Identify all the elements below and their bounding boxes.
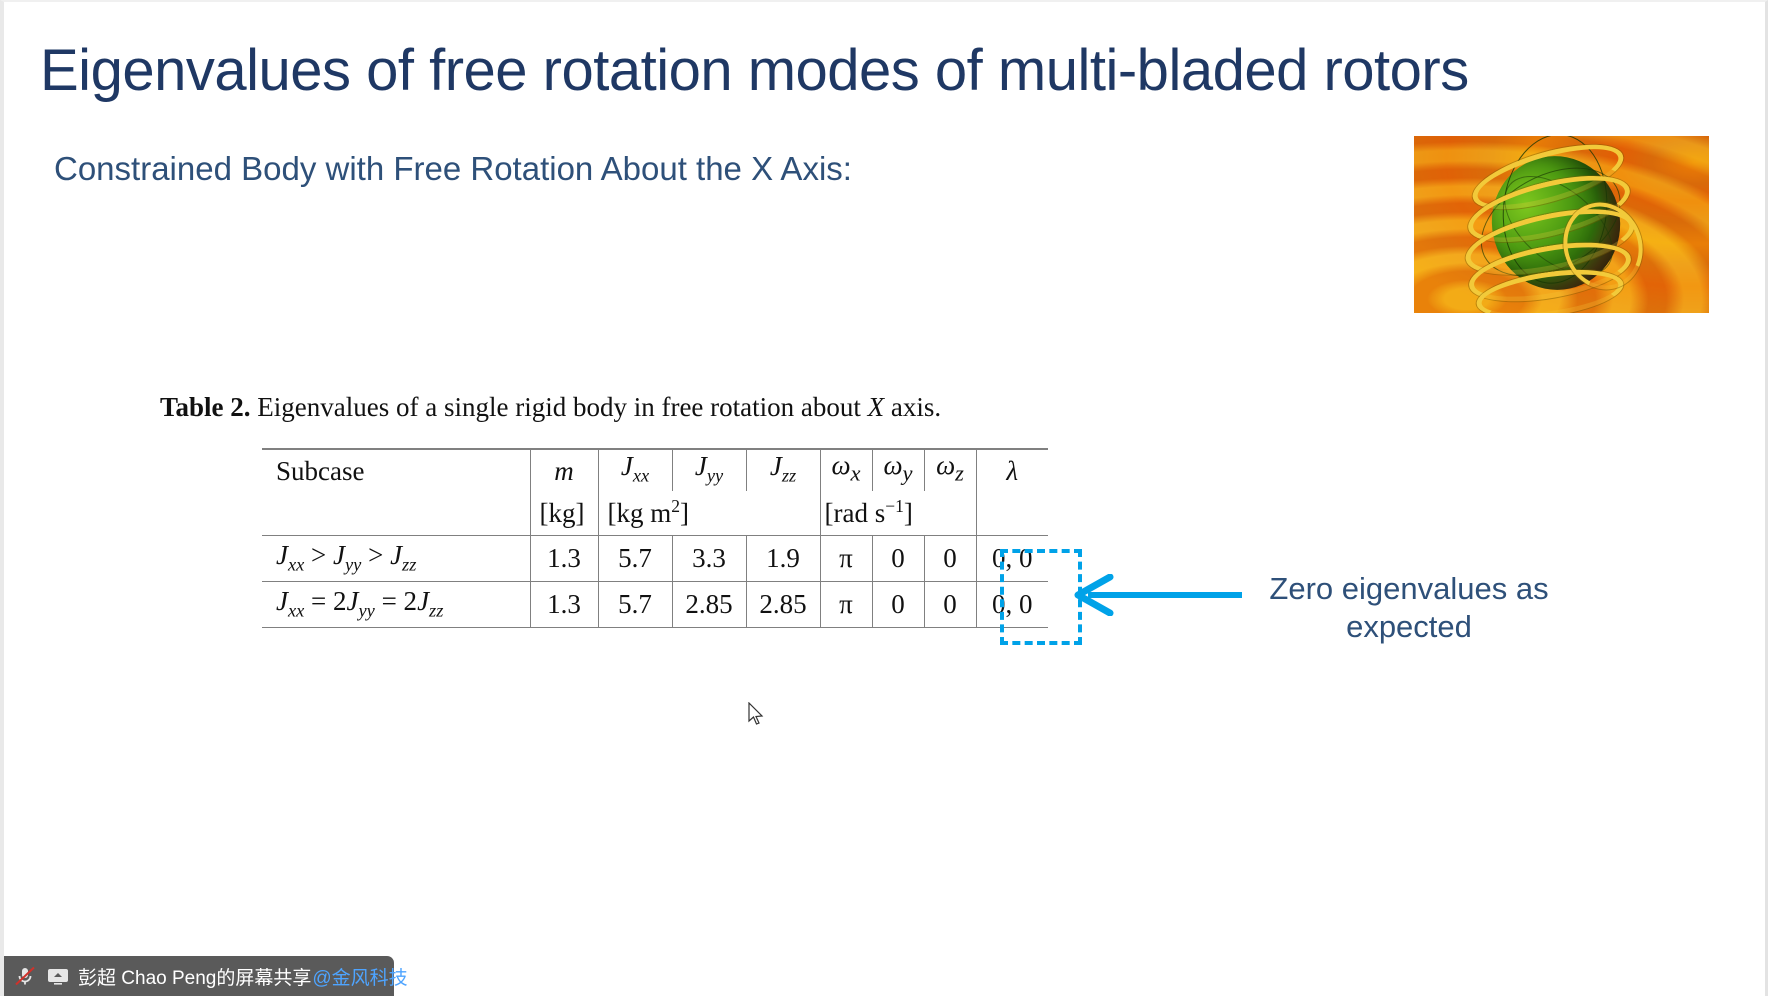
cell-lambda: 0, 0 [976, 535, 1048, 581]
table-caption-text: Eigenvalues of a single rigid body in fr… [251, 392, 868, 422]
cell-jyy: 2.85 [672, 581, 746, 627]
units-lambda-blank [976, 491, 1048, 535]
cell-omega-y: 0 [872, 535, 924, 581]
cell-subcase: Jxx = 2Jyy = 2Jzz [262, 581, 530, 627]
cell-jyy: 3.3 [672, 535, 746, 581]
cell-jxx: 5.7 [598, 581, 672, 627]
table-header-row: Subcase m Jxx Jyy Jzz ωx ωy ωz λ [262, 449, 1048, 491]
cell-subcase: Jxx > Jyy > Jzz [262, 535, 530, 581]
cell-jzz: 1.9 [746, 535, 820, 581]
table-row: Jxx > Jyy > Jzz 1.3 5.7 3.3 1.9 π 0 0 0,… [262, 535, 1048, 581]
presentation-slide: Eigenvalues of free rotation modes of mu… [4, 2, 1765, 964]
share-company-tag: @金风科技 [312, 963, 407, 990]
cell-mass: 1.3 [530, 581, 598, 627]
cell-lambda: 0, 0 [976, 581, 1048, 627]
table-caption-axis: X [868, 392, 885, 422]
annotation-text: Zero eigenvalues as expected [1244, 570, 1574, 646]
col-header-omega-z: ωz [924, 449, 976, 491]
col-header-mass: m [530, 449, 598, 491]
slide-subtitle: Constrained Body with Free Rotation Abou… [54, 150, 852, 188]
annotation-line-2: expected [1244, 608, 1574, 646]
cell-omega-x: π [820, 535, 872, 581]
col-header-subcase: Subcase [262, 449, 530, 491]
col-header-lambda: λ [976, 449, 1048, 491]
screen-share-bar[interactable]: 彭超 Chao Peng的屏幕共享 @金风科技 [4, 956, 394, 996]
cell-omega-z: 0 [924, 581, 976, 627]
callout-arrow-icon [1064, 574, 1244, 616]
units-inertia: [kg m2] [598, 491, 820, 535]
table-row: Jxx = 2Jyy = 2Jzz 1.3 5.7 2.85 2.85 π 0 … [262, 581, 1048, 627]
col-header-omega-x: ωx [820, 449, 872, 491]
cell-omega-z: 0 [924, 535, 976, 581]
screen-root: Eigenvalues of free rotation modes of mu… [0, 0, 1768, 996]
eigenvalues-table: Subcase m Jxx Jyy Jzz ωx ωy ωz λ [kg] [k… [262, 448, 1048, 628]
units-mass: [kg] [530, 491, 598, 535]
table-caption-number: Table 2. [160, 392, 251, 422]
screen-share-icon[interactable] [45, 964, 71, 988]
annotation-line-1: Zero eigenvalues as [1244, 570, 1574, 608]
table-caption: Table 2. Eigenvalues of a single rigid b… [160, 392, 941, 423]
spinning-volleyball-illustration [1414, 136, 1709, 313]
share-owner-label: 彭超 Chao Peng的屏幕共享 [78, 963, 311, 990]
table-caption-suffix: axis. [884, 392, 941, 422]
page-title: Eigenvalues of free rotation modes of mu… [40, 40, 1469, 103]
cell-jzz: 2.85 [746, 581, 820, 627]
col-header-jzz: Jzz [746, 449, 820, 491]
cell-mass: 1.3 [530, 535, 598, 581]
col-header-omega-y: ωy [872, 449, 924, 491]
col-header-jyy: Jyy [672, 449, 746, 491]
microphone-muted-icon[interactable] [12, 964, 38, 988]
col-header-jxx: Jxx [598, 449, 672, 491]
units-subcase-blank [262, 491, 530, 535]
units-omega: [rad s−1] [820, 491, 976, 535]
cell-omega-y: 0 [872, 581, 924, 627]
table-units-row: [kg] [kg m2] [rad s−1] [262, 491, 1048, 535]
mouse-cursor [748, 702, 766, 728]
cell-omega-x: π [820, 581, 872, 627]
cell-jxx: 5.7 [598, 535, 672, 581]
